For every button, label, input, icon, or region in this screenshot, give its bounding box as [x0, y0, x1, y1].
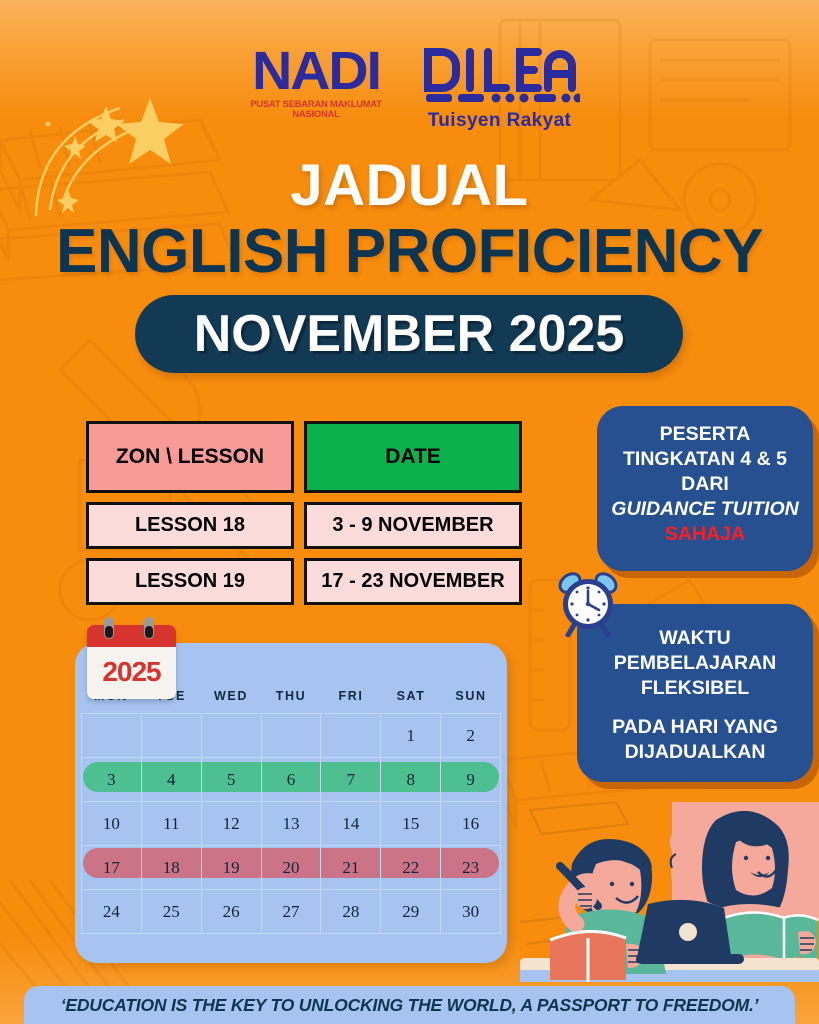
calendar-day[interactable]: 23: [440, 846, 501, 889]
info-line: PEMBELAJARAN: [587, 651, 803, 676]
calendar-day[interactable]: 15: [380, 802, 440, 845]
dilea-wordmark: [417, 46, 583, 109]
calendar-year-tab: 2025: [87, 617, 176, 699]
page-title: ENGLISH PROFICIENCY: [0, 216, 819, 287]
cell-lesson: LESSON 19: [86, 558, 294, 605]
calendar-grid[interactable]: 1 2 3 4 5 6 7 8 9 10 11 12 13 14 15 16 1…: [81, 713, 501, 934]
weekday-fri: FRI: [321, 689, 381, 703]
calendar-ring-icon: [144, 617, 154, 639]
calendar-week-row: 24 25 26 27 28 29 30: [81, 889, 501, 934]
calendar-day[interactable]: 9: [440, 758, 501, 801]
info-line: PADA HARI YANG: [587, 715, 803, 740]
calendar-day[interactable]: 10: [81, 802, 141, 845]
calendar-week-row: 10 11 12 13 14 15 16: [81, 801, 501, 845]
calendar-day[interactable]: 3: [81, 758, 141, 801]
calendar-week-row: 1 2: [81, 713, 501, 757]
page-kicker: JADUAL: [0, 152, 819, 219]
calendar-day[interactable]: 22: [380, 846, 440, 889]
calendar-day[interactable]: 19: [201, 846, 261, 889]
calendar-day[interactable]: 28: [320, 890, 380, 933]
nadi-logo: NADI PUSAT SEBARAN MAKLUMAT NASIONAL: [237, 44, 395, 119]
calendar-day[interactable]: [261, 714, 321, 757]
calendar-day[interactable]: [81, 714, 141, 757]
info-line-highlight: SAHAJA: [607, 522, 803, 547]
schedule-table: ZON \ LESSON DATE LESSON 18 3 - 9 NOVEMB…: [86, 421, 522, 614]
calendar-ring-icon: [104, 617, 114, 639]
calendar-day[interactable]: 20: [261, 846, 321, 889]
calendar-day[interactable]: 30: [440, 890, 501, 933]
calendar-day[interactable]: 1: [380, 714, 440, 757]
table-header-row: ZON \ LESSON DATE: [86, 421, 522, 493]
calendar-day[interactable]: 8: [380, 758, 440, 801]
calendar-day[interactable]: 24: [81, 890, 141, 933]
dilea-logo: Tuisyen Rakyat: [417, 44, 583, 132]
nadi-tagline: PUSAT SEBARAN MAKLUMAT NASIONAL: [235, 99, 396, 119]
nadi-wordmark: NADI: [234, 44, 397, 98]
weekday-thu: THU: [261, 689, 321, 703]
calendar-week-row: 17 18 19 20 21 22 23: [81, 845, 501, 889]
footer-quote-banner: ‘EDUCATION IS THE KEY TO UNLOCKING THE W…: [24, 986, 795, 1024]
info-spacer: [587, 701, 803, 715]
calendar-day[interactable]: 6: [261, 758, 321, 801]
calendar-year-label: 2025: [87, 647, 176, 697]
month-badge-label: NOVEMBER 2025: [194, 304, 625, 364]
calendar-day[interactable]: 27: [261, 890, 321, 933]
column-header-date: DATE: [304, 421, 522, 493]
calendar-day[interactable]: [320, 714, 380, 757]
info-line: PESERTA: [607, 422, 803, 447]
column-header-zone: ZON \ LESSON: [86, 421, 294, 493]
calendar-tab-body: 2025: [87, 625, 176, 699]
students-illustration: [520, 802, 819, 982]
info-line: TINGKATAN 4 & 5: [607, 447, 803, 472]
weekday-wed: WED: [201, 689, 261, 703]
cell-date: 17 - 23 NOVEMBER: [304, 558, 522, 605]
calendar-day[interactable]: 16: [440, 802, 501, 845]
calendar-day[interactable]: 18: [141, 846, 201, 889]
calendar-day[interactable]: 12: [201, 802, 261, 845]
calendar-day[interactable]: 13: [261, 802, 321, 845]
calendar-day[interactable]: 14: [320, 802, 380, 845]
info-line: FLEKSIBEL: [587, 676, 803, 701]
weekday-sun: SUN: [441, 689, 501, 703]
info-line-emphasis: GUIDANCE TUITION: [607, 497, 803, 522]
info-box-participants: PESERTA TINGKATAN 4 & 5 DARI GUIDANCE TU…: [597, 406, 813, 571]
calendar-day[interactable]: 29: [380, 890, 440, 933]
footer-quote-text: ‘EDUCATION IS THE KEY TO UNLOCKING THE W…: [61, 995, 759, 1016]
calendar-day[interactable]: 4: [141, 758, 201, 801]
calendar-day[interactable]: 25: [141, 890, 201, 933]
cell-date: 3 - 9 NOVEMBER: [304, 502, 522, 549]
calendar-tab-top: [87, 625, 176, 647]
calendar-day[interactable]: 7: [320, 758, 380, 801]
weekday-sat: SAT: [381, 689, 441, 703]
calendar-day[interactable]: 11: [141, 802, 201, 845]
calendar-day[interactable]: 26: [201, 890, 261, 933]
calendar-day[interactable]: [201, 714, 261, 757]
table-row: LESSON 19 17 - 23 NOVEMBER: [86, 558, 522, 605]
cell-lesson: LESSON 18: [86, 502, 294, 549]
info-line: DARI: [607, 472, 803, 497]
calendar-day[interactable]: [141, 714, 201, 757]
calendar-day[interactable]: 17: [81, 846, 141, 889]
calendar-week-row: 3 4 5 6 7 8 9: [81, 757, 501, 801]
alarm-clock-icon: [552, 565, 624, 637]
table-row: LESSON 18 3 - 9 NOVEMBER: [86, 502, 522, 549]
dilea-tagline: Tuisyen Rakyat: [417, 110, 583, 132]
calendar-day[interactable]: 5: [201, 758, 261, 801]
logo-row: NADI PUSAT SEBARAN MAKLUMAT NASIONAL: [0, 44, 819, 136]
info-line: DIJADUALKAN: [587, 740, 803, 765]
month-badge: NOVEMBER 2025: [135, 295, 683, 373]
calendar-day[interactable]: 21: [320, 846, 380, 889]
calendar-day[interactable]: 2: [440, 714, 501, 757]
